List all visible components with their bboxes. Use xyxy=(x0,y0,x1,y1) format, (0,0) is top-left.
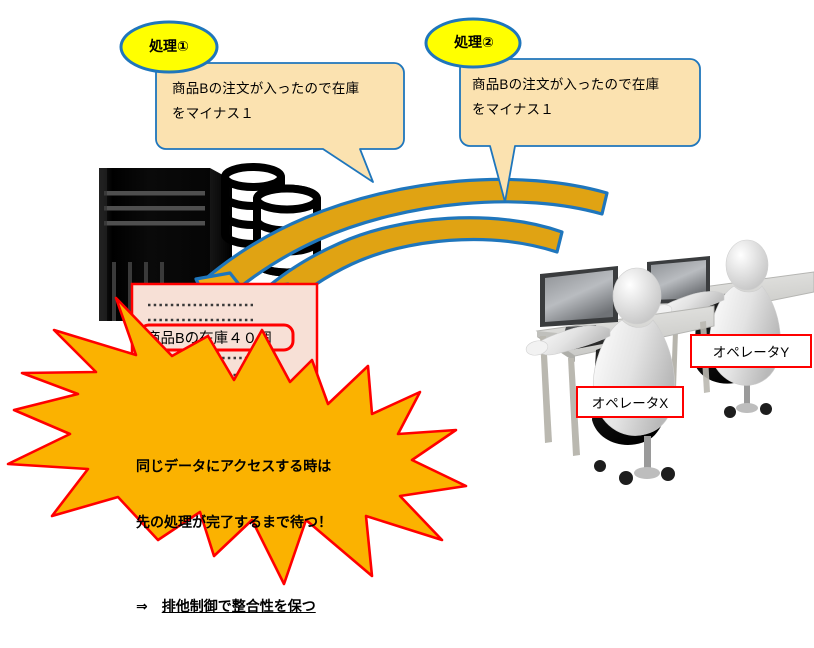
speech-bubble-1-text: 商品Bの注文が入ったので在庫 をマイナス１ xyxy=(172,76,384,126)
operator-y-label: オペレータY xyxy=(690,334,812,368)
process-badge-2-label: 処理② xyxy=(434,32,514,52)
callouts-layer xyxy=(0,0,814,592)
burst-conclusion: 排他制御で整合性を保つ xyxy=(162,598,316,614)
speech-bubble-2-text: 商品Bの注文が入ったので在庫 をマイナス１ xyxy=(472,72,684,122)
burst-arrow-prefix: ⇒ xyxy=(136,598,162,614)
process-badge-1-label: 処理① xyxy=(129,36,209,56)
operator-x-label: オペレータX xyxy=(576,386,684,418)
diagram-canvas: 商品Bの在庫４０個 同じデータにアクセスする時は 先の処理が完了するまで待つ！ … xyxy=(0,0,814,592)
